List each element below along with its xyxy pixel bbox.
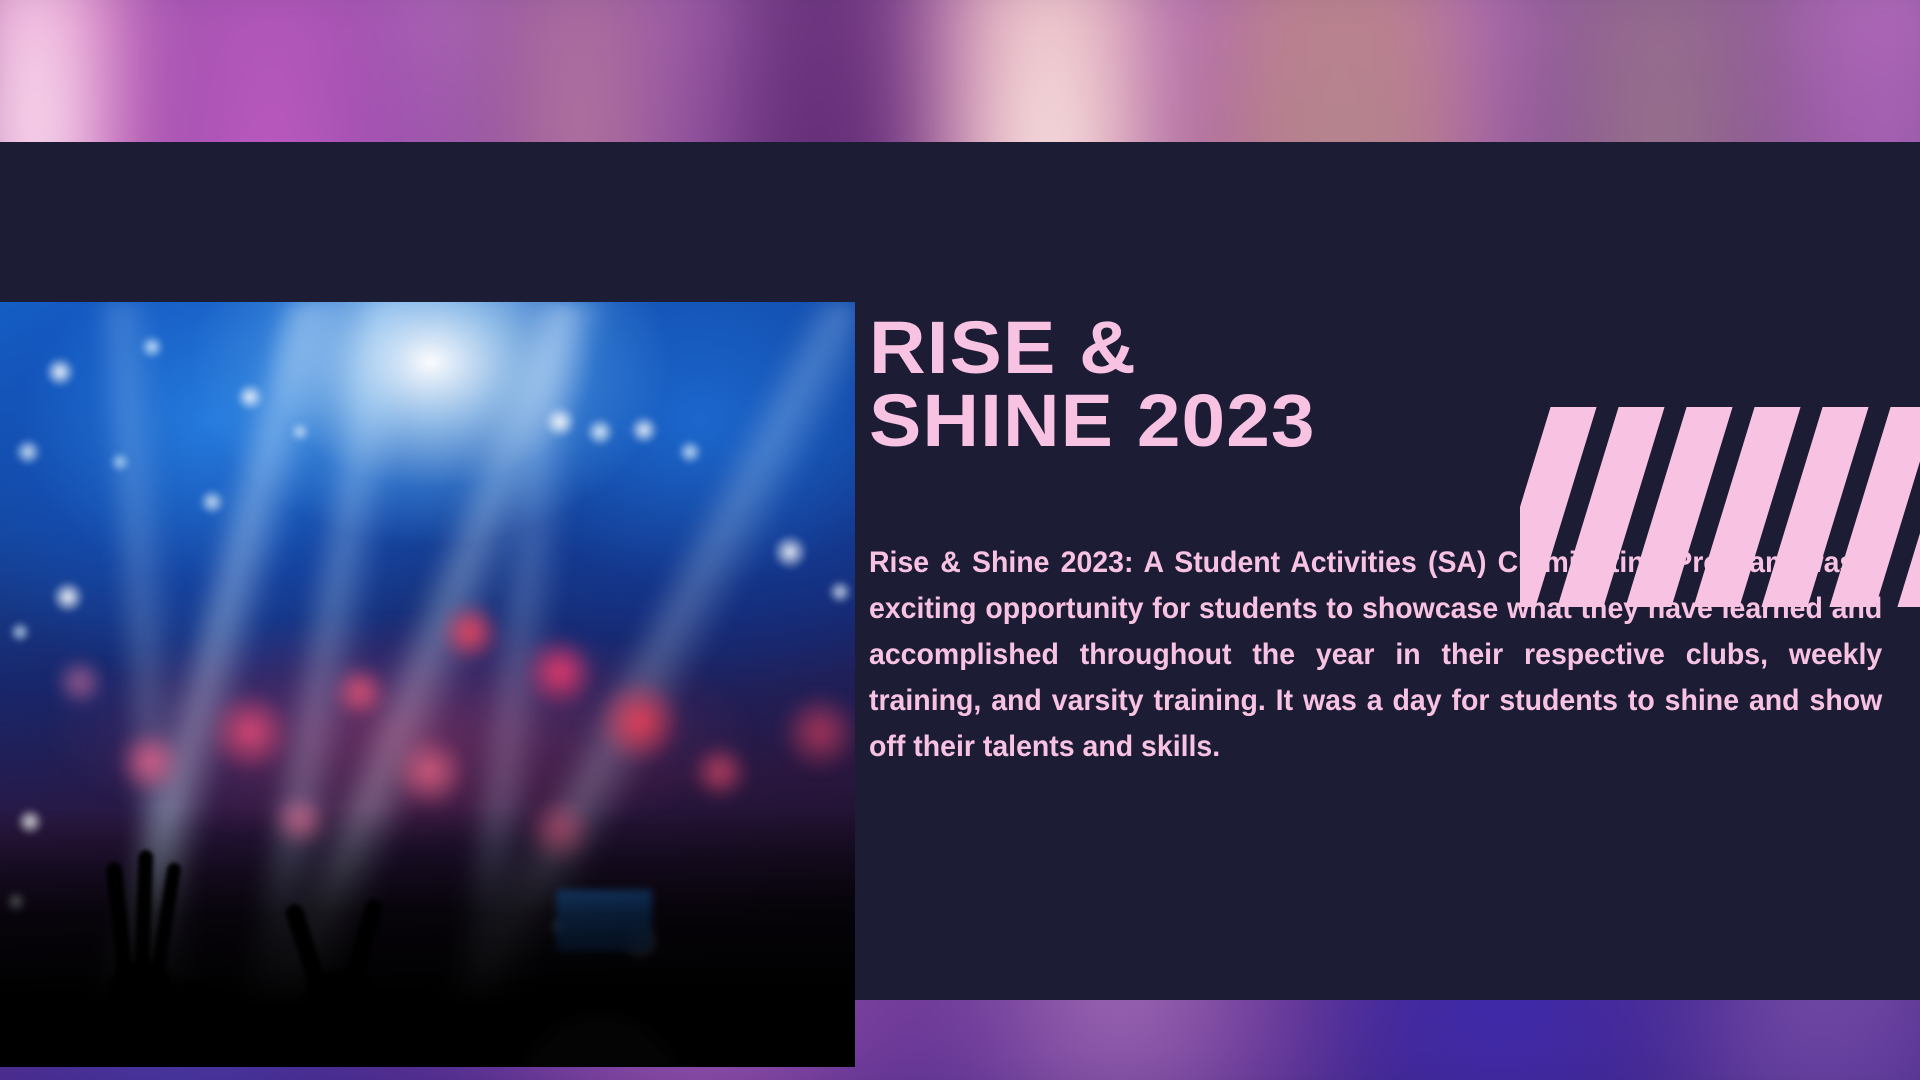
raised-hand-palm [110,962,172,1067]
concert-photo [0,302,855,1067]
page-title: RISE & SHINE 2023 [869,312,1316,457]
raised-hand-palm [308,972,372,1067]
body-paragraph: Rise & Shine 2023: A Student Activities … [869,540,1882,770]
content-card: RISE & SHINE 2023 Rise & Shine 2023: A S… [0,142,1920,1000]
